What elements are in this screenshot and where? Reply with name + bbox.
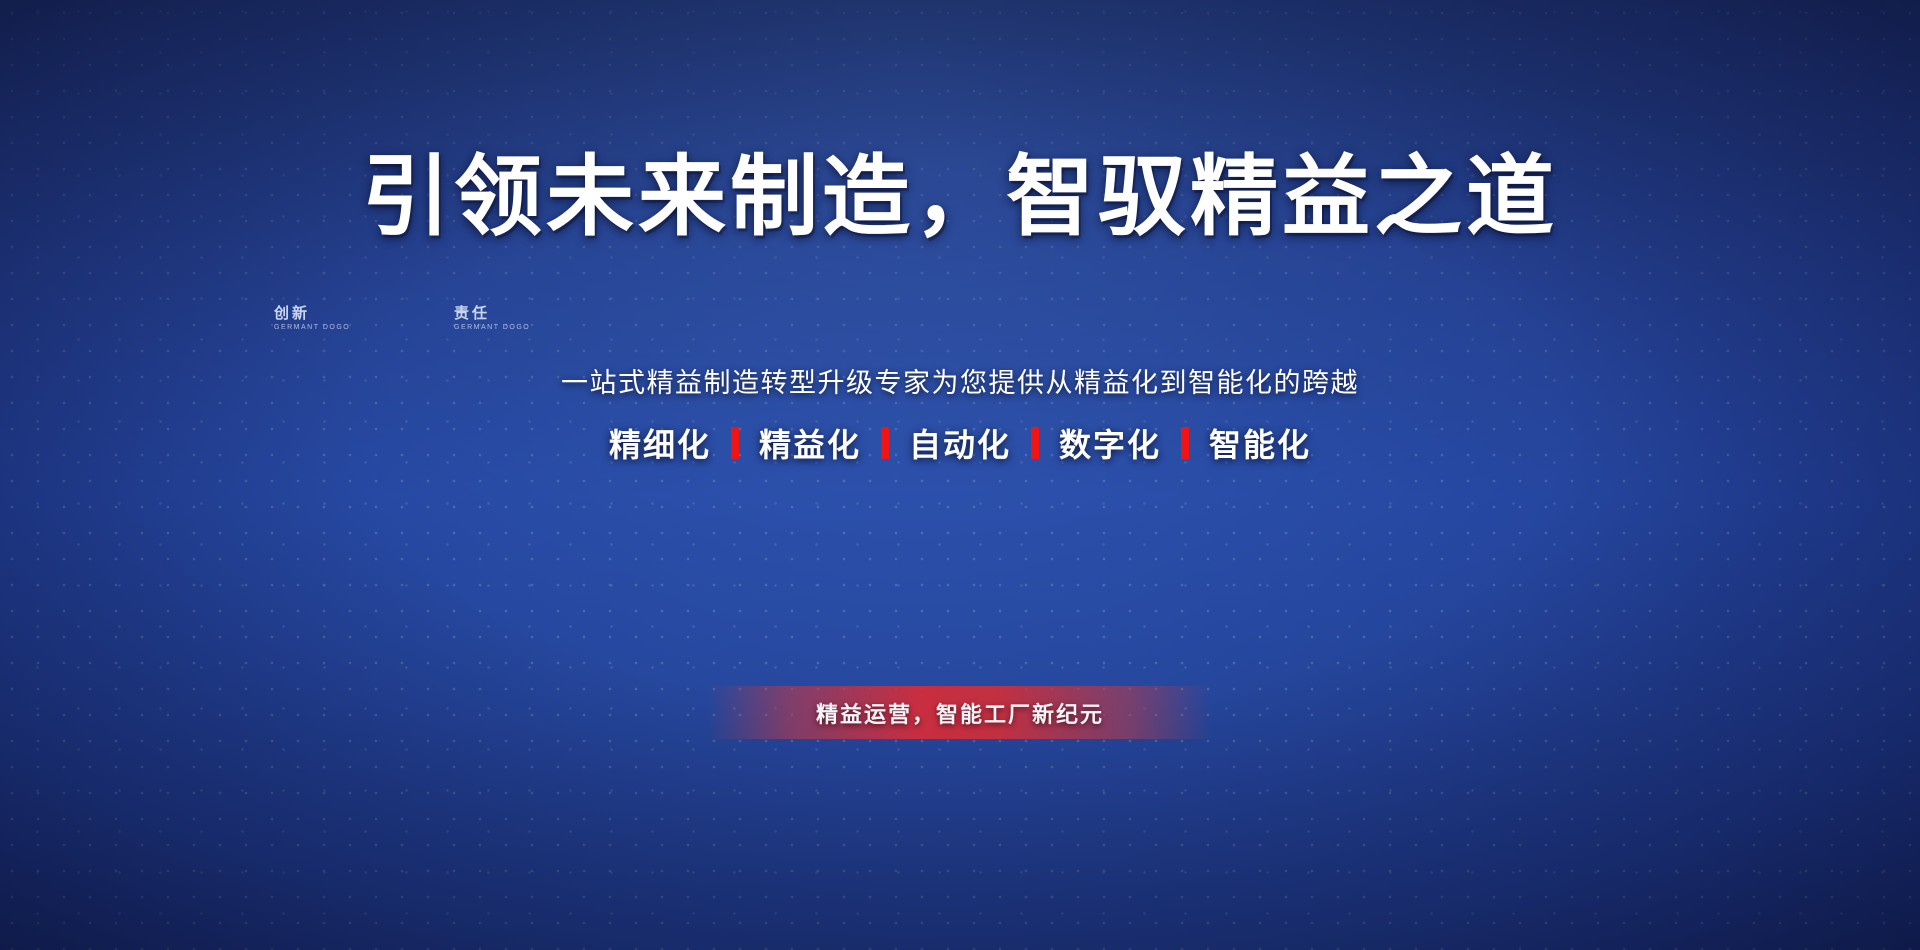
keyword-item: 精益化 — [759, 420, 861, 466]
keyword-item: 自动化 — [909, 420, 1011, 466]
hero-ribbon: 精益运营，智能工厂新纪元 — [708, 686, 1212, 739]
wall-panel-label-cn: 创新 — [274, 302, 310, 323]
hero-keyword-list: 精细化 精益化 自动化 数字化 智能化 — [0, 420, 1920, 466]
keyword-separator-icon — [881, 427, 889, 459]
keyword-separator-icon — [731, 427, 739, 459]
keyword-separator-icon — [1181, 427, 1189, 459]
wall-panel-label-cn: 责任 — [454, 302, 490, 323]
wall-panel-label-en: GERMANT DOGO — [454, 324, 530, 331]
keyword-item: 数字化 — [1059, 420, 1161, 466]
wall-panel-label-en: GERMANT DOGO — [274, 324, 350, 331]
hero-content: 引领未来制造，智驭精益之道 一站式精益制造转型升级专家为您提供从精益化到智能化的… — [0, 0, 1920, 950]
hero-subtitle: 一站式精益制造转型升级专家为您提供从精益化到智能化的跨越 — [0, 361, 1920, 400]
hero-banner: 技能道场 SKILL DOJO 质量反省 QUALITY REFLECTION — [0, 0, 1920, 950]
hero-headline: 引领未来制造，智驭精益之道 — [0, 126, 1920, 253]
keyword-item: 精细化 — [609, 420, 711, 466]
keyword-separator-icon — [1031, 427, 1039, 459]
ribbon-text: 精益运营，智能工厂新纪元 — [816, 697, 1104, 729]
keyword-item: 智能化 — [1209, 420, 1311, 466]
